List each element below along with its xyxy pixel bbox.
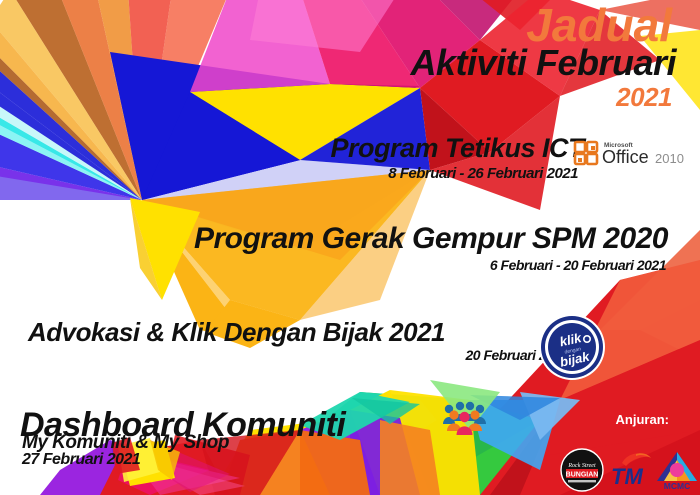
community-people-icon: [441, 398, 488, 436]
poster-canvas: Jadual Aktiviti Februari 2021 Program Te…: [0, 0, 700, 495]
klik-dengan-bijak-logo: klik dengan bijak: [538, 313, 606, 381]
svg-text:TM: TM: [611, 464, 643, 489]
tm-logo: TM: [608, 450, 656, 490]
office-logo-version: 2010: [655, 151, 684, 166]
program-2-name: Program Gerak Gempur SPM 2020: [194, 222, 668, 256]
svg-text:BUNGIAN: BUNGIAN: [566, 471, 599, 478]
svg-text:MCMC: MCMC: [664, 481, 690, 491]
mcmc-logo: MCMC: [655, 448, 699, 492]
program-4-dates: 27 Februari 2021: [22, 451, 140, 469]
program-1-name: Program Tetikus ICT: [330, 133, 584, 164]
program-3-name: Advokasi & Klik Dengan Bijak 2021: [28, 317, 445, 348]
poster-subtitle: Aktiviti Februari: [410, 42, 676, 84]
program-2-dates: 6 Februari - 20 Februari 2021: [490, 257, 666, 273]
sponsors-label: Anjuran:: [616, 412, 669, 427]
bunyian-logo: Rock Street BUNGIAN: [560, 448, 604, 492]
office-logo-product: Office: [602, 147, 649, 167]
microsoft-office-2010-logo: Microsoft Office 2010: [573, 137, 695, 170]
poster-year: 2021: [616, 82, 672, 113]
svg-text:Rock Street: Rock Street: [567, 463, 596, 469]
program-1-dates: 8 Februari - 26 Februari 2021: [388, 165, 578, 182]
